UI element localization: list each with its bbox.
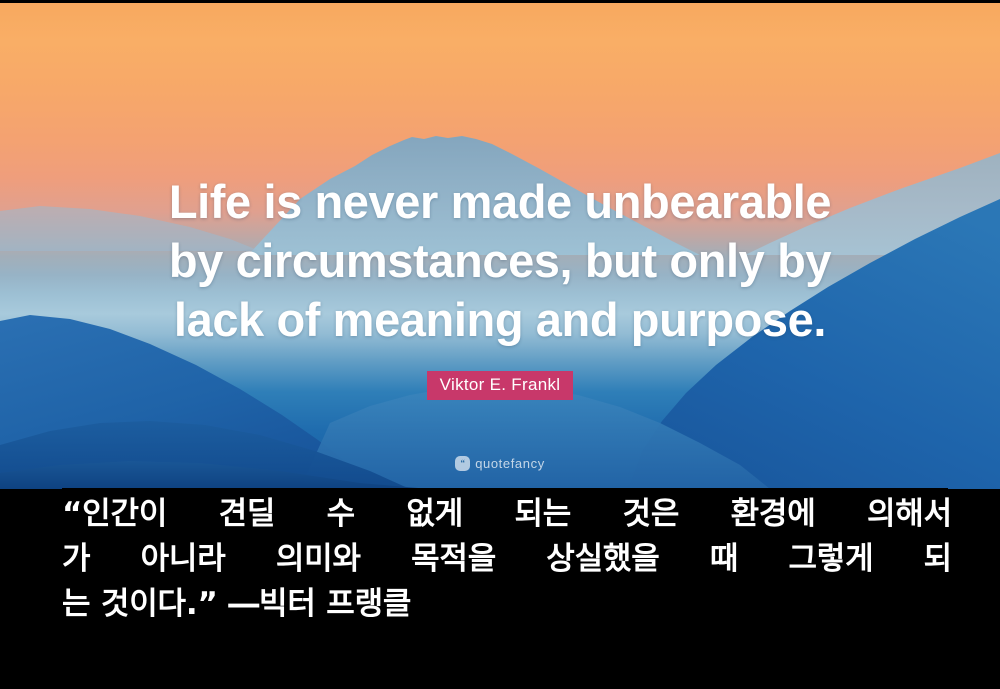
caption-seg: 것은 bbox=[623, 492, 680, 537]
quote-mark-icon: “ bbox=[455, 456, 470, 471]
quote-line-3: lack of meaning and purpose. bbox=[0, 290, 1000, 349]
quote-line-1: Life is never made unbearable bbox=[0, 172, 1000, 231]
caption-seg: “인간이 bbox=[62, 492, 167, 537]
caption-seg: 그렇게 bbox=[788, 537, 873, 582]
caption-line-3: 는 것이다.” ―빅터 프랭클 bbox=[62, 582, 952, 627]
caption-line-1: “인간이 견딜 수 없게 되는 것은 환경에 의해서 bbox=[62, 492, 952, 537]
quote-image: Life is never made unbearable by circums… bbox=[0, 0, 1000, 689]
caption-seg: 없게 bbox=[406, 492, 463, 537]
author-name-badge: Viktor E. Frankl bbox=[427, 371, 574, 400]
author-badge-container: Viktor E. Frankl bbox=[0, 371, 1000, 400]
quote-text: Life is never made unbearable by circums… bbox=[0, 172, 1000, 349]
caption-seg: 목적을 bbox=[411, 537, 496, 582]
caption-seg: 의해서 bbox=[867, 492, 952, 537]
korean-translation: “인간이 견딜 수 없게 되는 것은 환경에 의해서 가 아니라 의미와 목적을… bbox=[62, 492, 952, 627]
caption-seg: 되는 bbox=[514, 492, 571, 537]
caption-seg: 견딜 bbox=[219, 492, 276, 537]
watermark-brand-label: quotefancy bbox=[475, 456, 545, 471]
caption-seg: 수 bbox=[327, 492, 355, 537]
caption-seg: 상실했을 bbox=[546, 537, 659, 582]
caption-seg: 가 bbox=[62, 537, 90, 582]
caption-seg: 아니라 bbox=[141, 537, 226, 582]
quotefancy-watermark: “ quotefancy bbox=[0, 453, 1000, 471]
caption-line-2: 가 아니라 의미와 목적을 상실했을 때 그렇게 되 bbox=[62, 537, 952, 582]
caption-seg: 의미와 bbox=[276, 537, 361, 582]
quote-line-2: by circumstances, but only by bbox=[0, 231, 1000, 290]
top-black-edge bbox=[0, 0, 1000, 3]
caption-seg: 때 bbox=[710, 537, 738, 582]
caption-seg: 환경에 bbox=[731, 492, 816, 537]
caption-seg: 되 bbox=[924, 537, 952, 582]
